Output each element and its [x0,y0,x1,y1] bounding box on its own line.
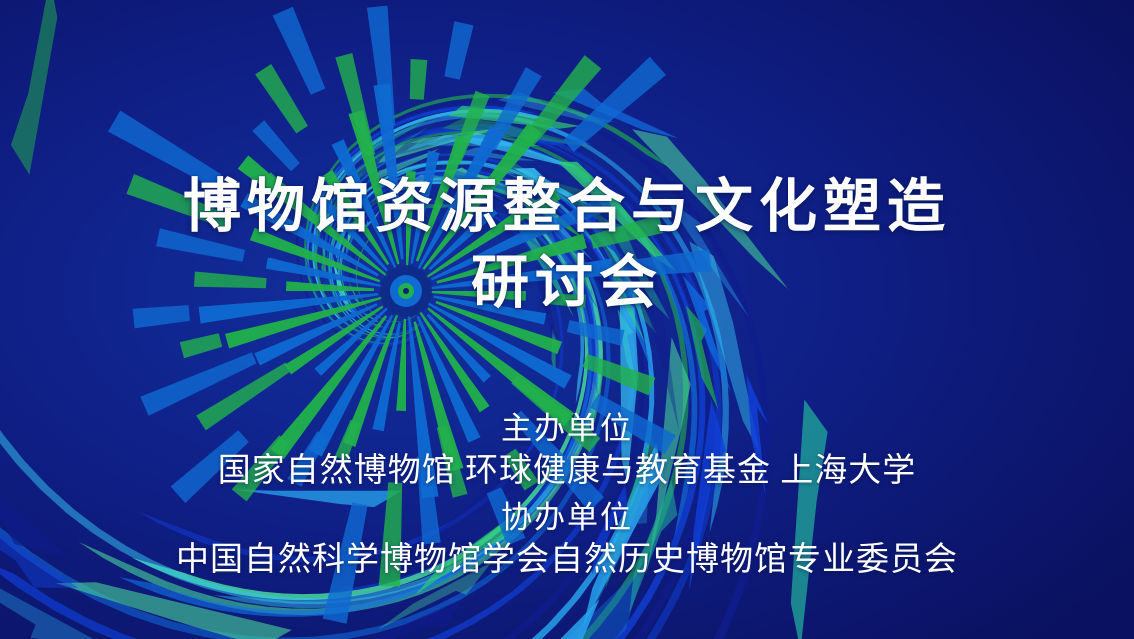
title-slide: 博物馆资源整合与文化塑造 研讨会 主办单位 国家自然博物馆 环球健康与教育基金 … [0,0,1134,639]
spiral-ribbon-background [0,0,1134,639]
